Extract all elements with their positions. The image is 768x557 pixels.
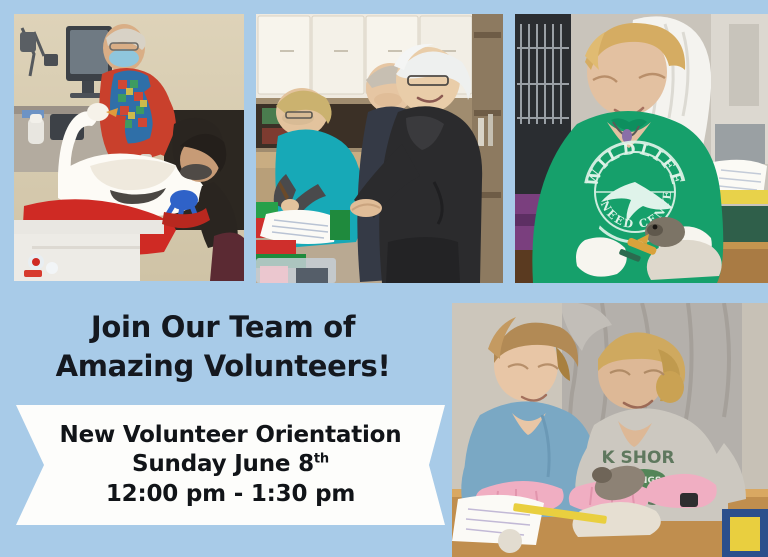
photo-swan-exam [14,14,244,281]
headline-line-2: Amazing Volunteers! [0,347,446,386]
photo-bird-feeding: WILDLIFE IN NEED CENTER [515,14,768,283]
photo-bird-feeding-artwork: WILDLIFE IN NEED CENTER [515,14,768,283]
photo-pink-gloves: K SHOR WINGS HTS [452,303,768,557]
photo-kitchen-volunteers [256,14,503,283]
event-date-ordinal: th [314,452,329,467]
headline: Join Our Team of Amazing Volunteers! [0,308,446,385]
headline-line-1: Join Our Team of [91,310,355,344]
event-time: 12:00 pm - 1:30 pm [106,480,355,509]
photo-kitchen-volunteers-artwork [256,14,503,283]
photo-pink-gloves-artwork: K SHOR WINGS HTS [452,303,768,557]
event-date-text: Sunday June 8 [132,451,314,477]
photo-swan-exam-artwork [14,14,244,281]
ribbon-banner-text: New Volunteer Orientation Sunday June 8t… [16,405,445,525]
event-date: Sunday June 8th [132,450,329,479]
volunteer-recruitment-flyer: WILDLIFE IN NEED CENTER [0,0,768,557]
event-title: New Volunteer Orientation [60,421,402,450]
svg-text:K SHOR: K SHOR [601,448,674,468]
